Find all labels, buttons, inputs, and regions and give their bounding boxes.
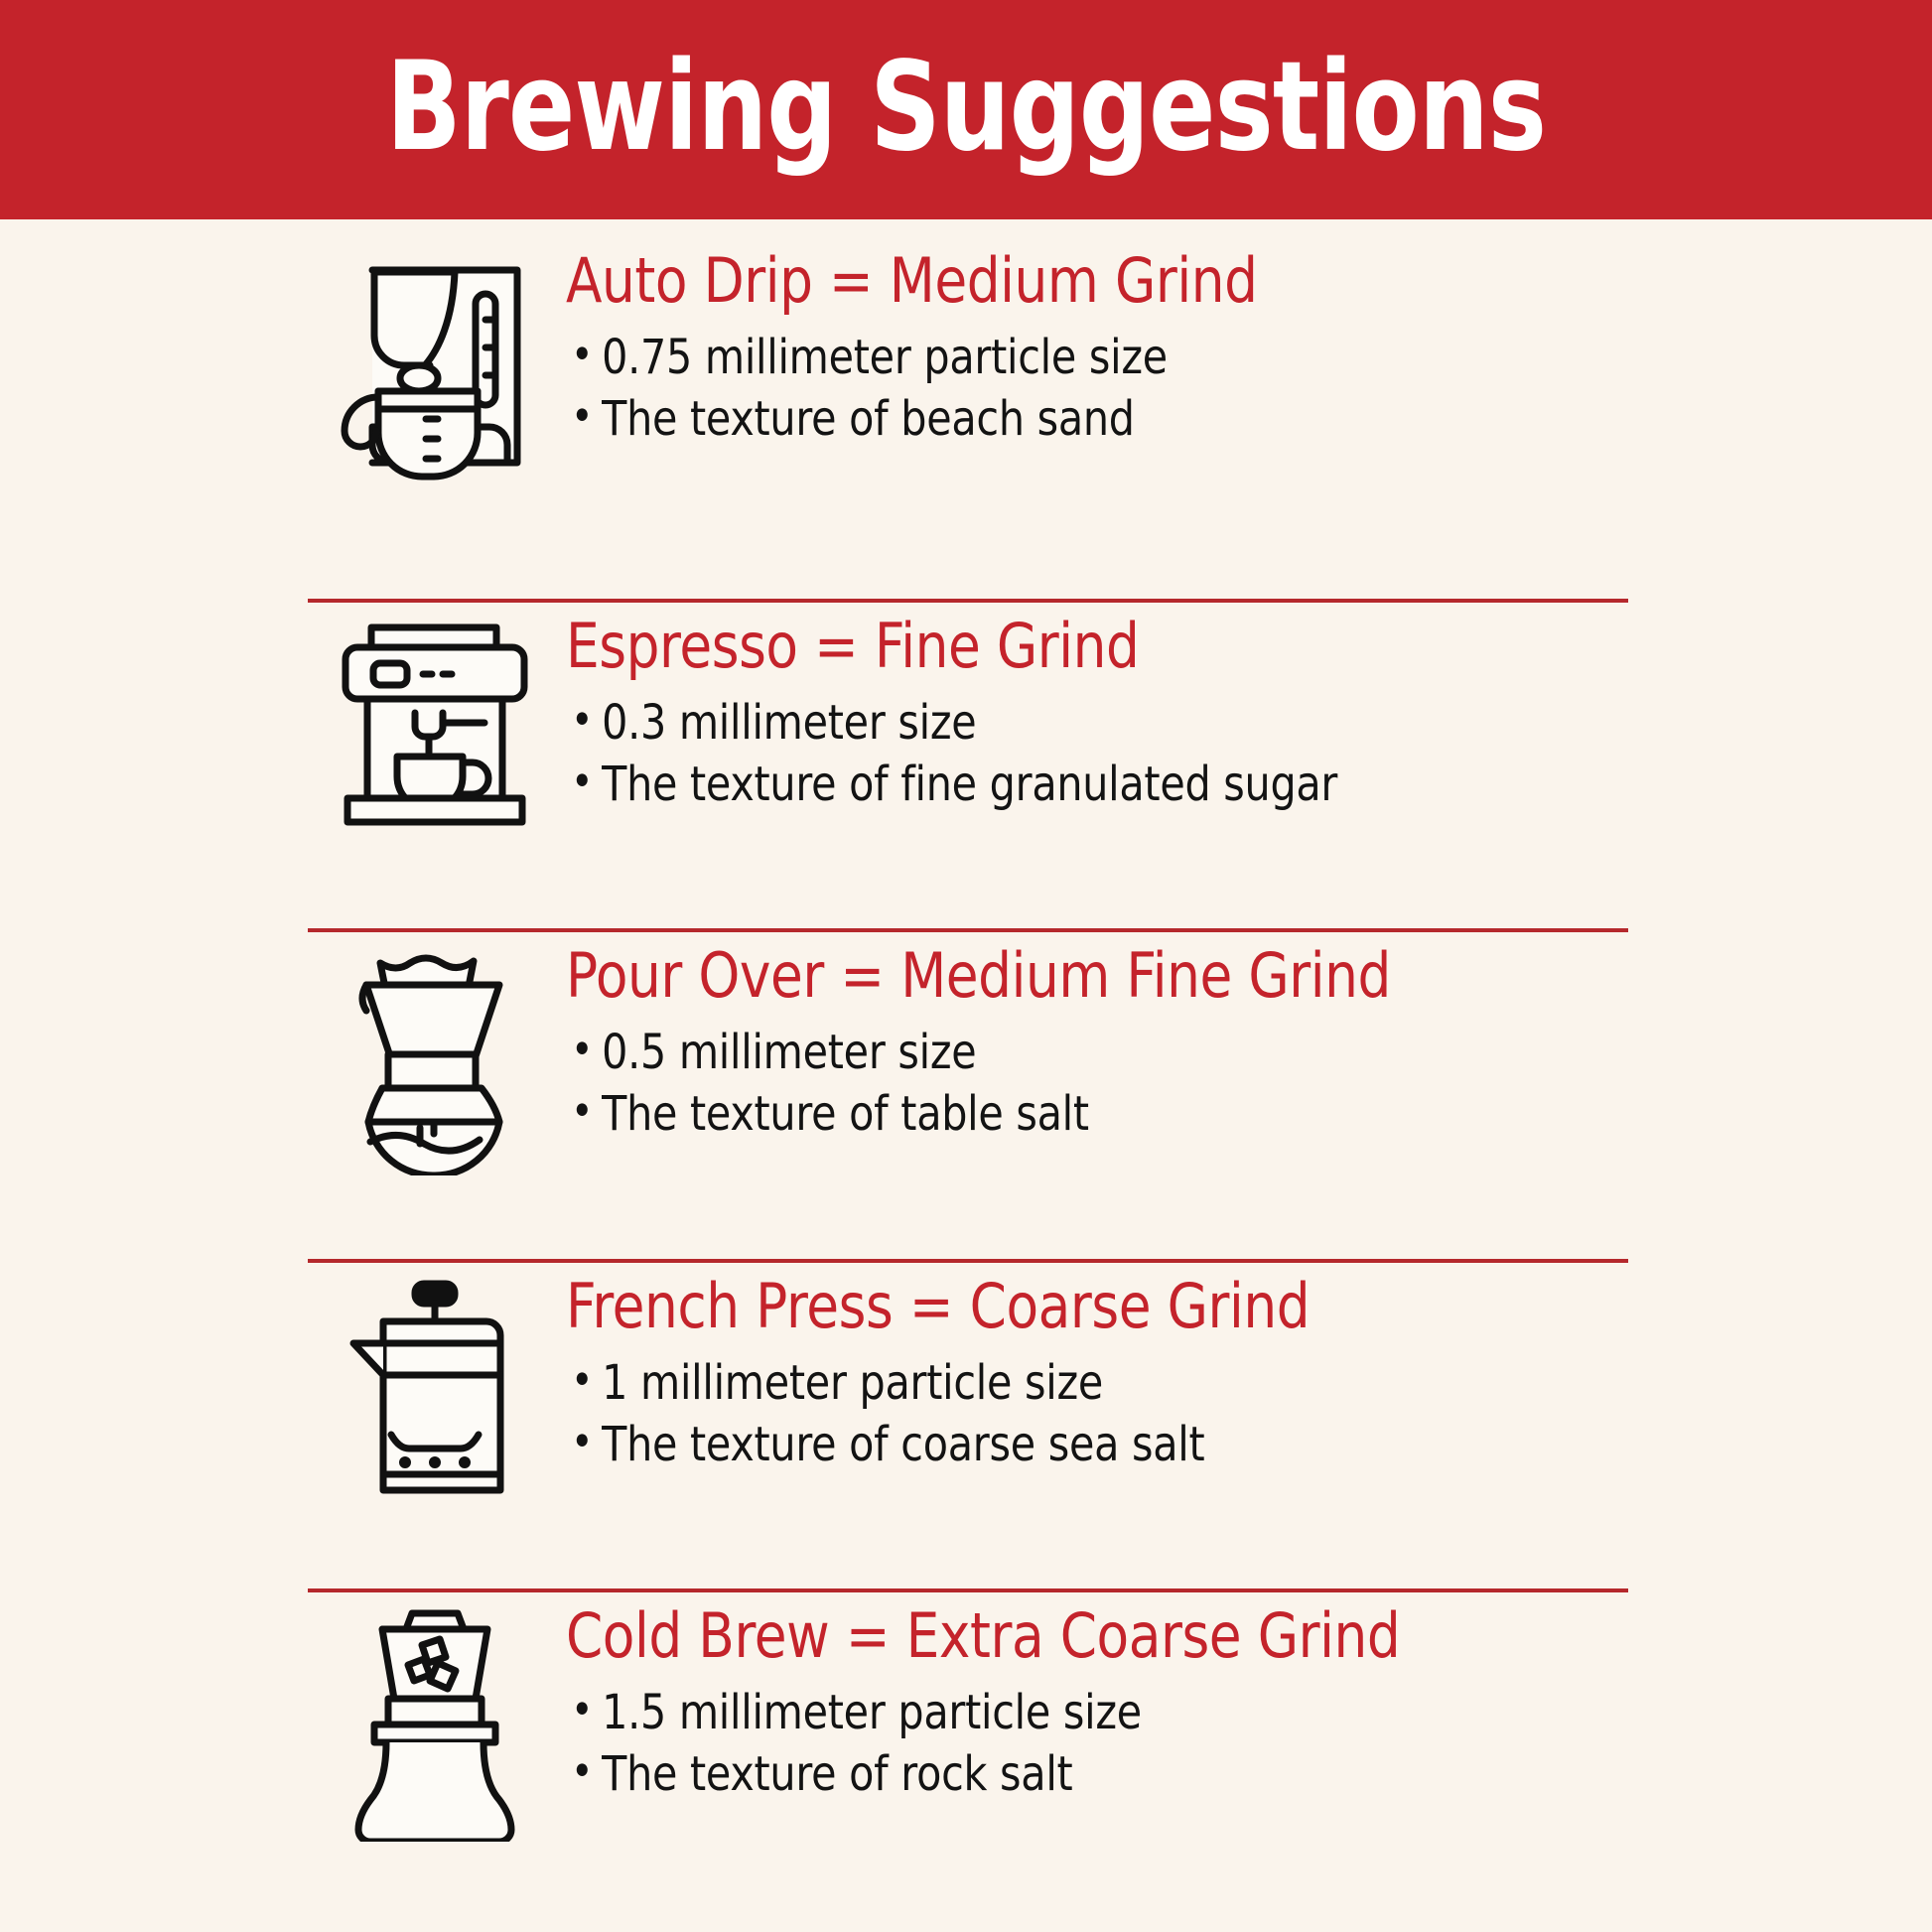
bullet-item: The texture of rock salt — [566, 1743, 1535, 1805]
bullet-item: 1.5 millimeter particle size — [566, 1682, 1535, 1743]
method-bullets: 0.75 millimeter particle size The textur… — [566, 327, 1693, 451]
section-divider — [308, 1588, 1628, 1592]
french-press-icon — [303, 1270, 566, 1504]
method-heading: Espresso = Fine Grind — [566, 614, 1535, 678]
infographic-page: Brewing Suggestions — [0, 0, 1932, 1932]
section-divider — [308, 1259, 1628, 1263]
bullet-item: 0.75 millimeter particle size — [566, 327, 1535, 388]
list-item: Pour Over = Medium Fine Grind 0.5 millim… — [303, 939, 1693, 1175]
brewing-method-list: Auto Drip = Medium Grind 0.75 millimeter… — [0, 219, 1932, 1932]
method-bullets: 1.5 millimeter particle size The texture… — [566, 1682, 1693, 1806]
list-item: French Press = Coarse Grind 1 millimeter… — [303, 1270, 1693, 1504]
method-heading: Pour Over = Medium Fine Grind — [566, 943, 1535, 1008]
method-heading: Auto Drip = Medium Grind — [566, 248, 1535, 313]
section-divider — [308, 599, 1628, 603]
list-item: Espresso = Fine Grind 0.3 millimeter siz… — [303, 610, 1693, 826]
bullet-item: The texture of table salt — [566, 1083, 1535, 1145]
bullet-item: The texture of beach sand — [566, 388, 1535, 450]
list-item: Auto Drip = Medium Grind 0.75 millimeter… — [303, 244, 1693, 481]
espresso-machine-icon — [303, 610, 566, 826]
method-bullets: 0.5 millimeter size The texture of table… — [566, 1022, 1693, 1146]
header-banner: Brewing Suggestions — [0, 0, 1932, 219]
method-heading: French Press = Coarse Grind — [566, 1274, 1535, 1338]
bullet-item: The texture of coarse sea salt — [566, 1414, 1535, 1475]
method-text: French Press = Coarse Grind 1 millimeter… — [566, 1270, 1693, 1476]
method-text: Auto Drip = Medium Grind 0.75 millimeter… — [566, 244, 1693, 451]
pour-over-chemex-icon — [303, 939, 566, 1175]
bullet-item: The texture of fine granulated sugar — [566, 754, 1535, 815]
auto-drip-coffee-maker-icon — [303, 244, 566, 481]
bullet-item: 0.3 millimeter size — [566, 692, 1535, 754]
list-item: Cold Brew = Extra Coarse Grind 1.5 milli… — [303, 1599, 1693, 1842]
method-heading: Cold Brew = Extra Coarse Grind — [566, 1603, 1535, 1668]
method-text: Espresso = Fine Grind 0.3 millimeter siz… — [566, 610, 1693, 816]
method-bullets: 0.3 millimeter size The texture of fine … — [566, 692, 1693, 816]
method-text: Cold Brew = Extra Coarse Grind 1.5 milli… — [566, 1599, 1693, 1806]
method-text: Pour Over = Medium Fine Grind 0.5 millim… — [566, 939, 1693, 1146]
bullet-item: 1 millimeter particle size — [566, 1352, 1535, 1414]
section-divider — [308, 928, 1628, 932]
cold-brew-icon — [303, 1599, 566, 1842]
bullet-item: 0.5 millimeter size — [566, 1022, 1535, 1083]
method-bullets: 1 millimeter particle size The texture o… — [566, 1352, 1693, 1476]
page-title: Brewing Suggestions — [386, 46, 1546, 169]
